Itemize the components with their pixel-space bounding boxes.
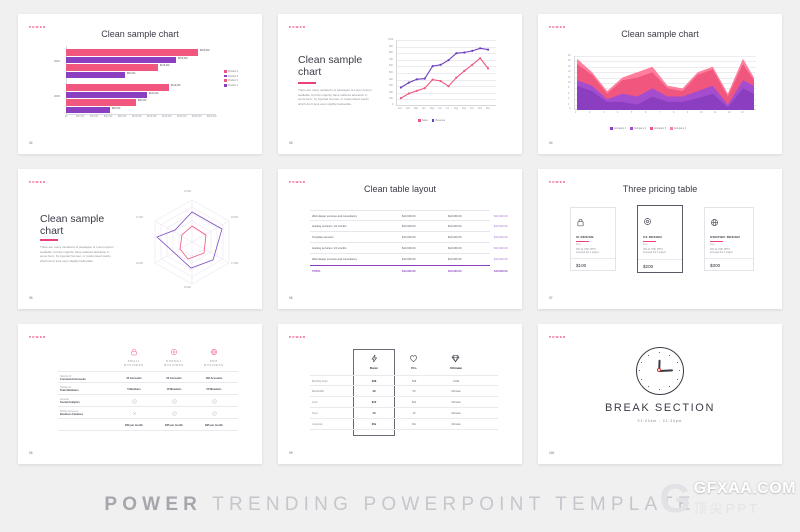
card-free-label: Free [710, 244, 715, 246]
price-normal: $25 per month [154, 424, 194, 427]
legend-item: Revenue [432, 119, 445, 122]
row-label-bottom: Connected Accounts [60, 378, 86, 381]
break-title: BREAK SECTION [538, 402, 782, 414]
x-tick: Feb [406, 108, 410, 110]
bar-label: $80,000 [127, 73, 135, 75]
cell-small: 25 Accounts [114, 377, 154, 380]
y-tick: 12 [568, 77, 571, 79]
cell-total-1: $13,000.00 [402, 270, 415, 273]
x-tick: 9 [687, 112, 688, 114]
bar-label: $180,000 [200, 50, 210, 52]
y-tick: 700 [389, 59, 393, 61]
radar-axis-label: 17,000 [136, 217, 143, 219]
line-series-svg [397, 40, 496, 106]
cell-ultimate: Ultimate [436, 401, 476, 404]
cell-value-3: $13,000.00 [494, 225, 507, 228]
clock-icon [636, 347, 684, 395]
bar-label: $110,000 [149, 93, 158, 95]
table-row[interactable]: Template services $13,000.00 $13,000.00 … [310, 232, 490, 243]
y-tick: 18 [568, 60, 571, 62]
bar-label: $150,000 [178, 58, 188, 60]
legend-label: Product 2 [228, 79, 238, 82]
legend-item: Product 4 [224, 70, 238, 73]
bar-label: $140,000 [171, 85, 181, 87]
x-tick: Jan [398, 108, 402, 110]
cell-value-1: $13,000.00 [402, 225, 415, 228]
card-free-label: Free [576, 244, 581, 246]
row-label: Monthly Fees [312, 380, 328, 383]
check-icon [212, 411, 217, 416]
legend-label: Company 3 [654, 127, 666, 130]
y-tick: 800 [389, 52, 393, 54]
cell-basic: 49 [354, 390, 394, 393]
brand-logo: POWER [29, 180, 46, 184]
x-tick: $180,000 [192, 116, 202, 118]
slide-body-text: There are many variations of passages of… [298, 88, 372, 106]
cell-description: Hosting services / 24 months [312, 247, 347, 250]
card-title: GRAPHIC DESIGN [710, 235, 740, 239]
column-header-pro-business: PRO BUSINESS [194, 360, 234, 367]
cell-description: Web design services and consultancy [312, 215, 357, 218]
cross-icon [132, 411, 137, 416]
watermark-domain: GFXAA.COM [694, 480, 796, 498]
table-row[interactable]: Web design services and consultancy $13,… [310, 254, 490, 265]
card-description: JPG AI, PDF, PPTX Licensed For 1 project [643, 249, 679, 256]
cell-total-label: TOTAL [312, 270, 321, 273]
x-tick: $80,000 [118, 116, 126, 118]
comparison-table: Number of Connected Accounts 25 Accounts… [58, 371, 238, 431]
x-tick: $160,000 [177, 116, 187, 118]
radar-axis-label: 18,000 [231, 217, 238, 219]
chart-legend: Company 1 Company 2 Company 3 Company 4 [610, 127, 686, 130]
legend-item: Company 2 [630, 127, 646, 130]
cell-value-3: $13,000.00 [494, 258, 507, 261]
table-row[interactable]: Contents 20x 30x Ultimate [310, 419, 498, 430]
x-tick: 5 [631, 112, 632, 114]
slide-grid: POWER Clean sample chart 02 $180,000 $15… [0, 0, 800, 478]
cell-ultimate: Ultimate [436, 412, 476, 415]
category-label: 2016 [54, 60, 60, 63]
x-tick: Apr [422, 108, 426, 110]
x-tick: $100,000 [132, 116, 142, 118]
y-tick: 6 [568, 93, 569, 95]
page-number: 08 [29, 451, 33, 455]
cell-normal: 10 Members [154, 388, 194, 391]
legend-item: Sales [418, 119, 428, 122]
slide-thumbnail-05[interactable]: POWER 05 Clean sample chart There are ma… [18, 169, 262, 309]
cell-value-3: $13,000.00 [494, 215, 507, 218]
globe-icon [210, 348, 218, 356]
cell-value-2: $13,000.00 [448, 247, 461, 250]
table-row[interactable]: Hosting services / 24 months $13,000.00 … [310, 243, 490, 254]
cell-total-3: $13,000.00 [494, 270, 507, 273]
chart-legend: Product 4 Product 3 Product 2 Product 1 [224, 70, 238, 87]
table-row[interactable]: Limit $10 $12 Ultimate [310, 397, 498, 408]
cell-ultimate: 100$ [436, 380, 476, 383]
bar-product-3 [66, 92, 147, 99]
legend-label: Company 1 [614, 127, 626, 130]
table-row[interactable]: Monthly Fees 20$ 50$ 100$ [310, 375, 498, 386]
page-title: Three pricing table [538, 184, 782, 194]
legend-label: Revenue [436, 119, 446, 122]
cell-ultimate: Ultimate [436, 390, 476, 393]
cell-value-2: $13,000.00 [448, 258, 461, 261]
line-chart: 1000 900 800 700 600 500 400 300 200 100… [388, 40, 496, 116]
y-tick: 4 [568, 98, 569, 100]
chart-legend: Sales Revenue [418, 119, 445, 122]
cell-value-1: $13,000.00 [402, 236, 415, 239]
y-tick: 300 [389, 85, 393, 87]
pricing-card-graphic-design[interactable]: GRAPHIC DESIGN Free JPG AI, PDF, PPTX Li… [704, 207, 754, 271]
cell-basic: 20x [354, 423, 394, 426]
cell-value-2: $13,000.00 [448, 215, 461, 218]
column-header-pro: Pro [394, 366, 434, 370]
card-price: $200 [643, 264, 653, 269]
page-number: 02 [29, 141, 33, 145]
cell-basic: 10 [354, 412, 394, 415]
watermark-logo: G [660, 482, 691, 516]
x-tick: Oct [470, 108, 474, 110]
legend-item: Product 2 [224, 79, 238, 82]
card-price: $300 [710, 263, 720, 268]
globe-icon [710, 218, 719, 227]
area-series-svg [575, 56, 756, 110]
table-total-row: TOTAL $13,000.00 $13,000.00 $13,000.00 [310, 265, 490, 276]
table-row[interactable]: Sync 10 15 Ultimate [310, 408, 498, 419]
check-icon [172, 399, 177, 404]
cell-value-2: $13,000.00 [448, 236, 461, 239]
table-row[interactable]: Priority Access to Business Features [58, 407, 238, 419]
cell-basic: $10 [354, 401, 394, 404]
cell-pro: 50$ [394, 380, 434, 383]
y-tick: 20 [568, 55, 571, 57]
cell-pro: 50 Members [194, 388, 234, 391]
bar-chart: $180,000 $150,000 $125,000 $80,000 2016 … [66, 46, 216, 124]
cell-value-1: $13,000.00 [402, 247, 415, 250]
cell-pro: 15 [394, 412, 434, 415]
x-tick: Nov [478, 108, 482, 110]
page-number: 03 [289, 141, 293, 145]
brand-logo: POWER [289, 335, 306, 339]
legend-label: Product 1 [228, 84, 238, 87]
slide-thumbnail-06[interactable]: POWER Clean table layout 06 Web design s… [278, 169, 522, 309]
row-label-bottom: Team Members [60, 389, 79, 392]
x-tick: 8 [673, 112, 674, 114]
slide-thumbnail-100[interactable]: POWER 100 BREAK SECTION 01:00am - 01:30p… [538, 324, 782, 464]
header-line-2: BUSINESS [204, 364, 224, 367]
card-free-label: Free [643, 244, 648, 246]
slide-thumbnail-08[interactable]: POWER 08 SMALL BUSINESS NORMAL BUSINESS … [18, 324, 262, 464]
page-number: 09 [289, 451, 293, 455]
check-icon [132, 399, 137, 404]
legend-label: Product 4 [228, 70, 238, 73]
slide-thumbnail-04[interactable]: POWER Clean sample chart 04 20 18 16 14 [538, 14, 782, 154]
header-line-1: PRO [210, 360, 218, 363]
legend-label: Product 3 [228, 75, 238, 78]
header-line-1: NORMAL [166, 360, 182, 363]
legend-item: Product 1 [224, 84, 238, 87]
bar-product-4 [66, 49, 198, 56]
cell-description: Hosting services / 24 months [312, 225, 347, 228]
x-tick: $60,000 [104, 116, 112, 118]
table-row[interactable]: Number of Team Members 5 Members 10 Memb… [58, 383, 238, 395]
watermark: G GFXAA.COM 顶尖PPT [660, 480, 796, 517]
slide-thumbnail-02[interactable]: POWER Clean sample chart 02 $180,000 $15… [18, 14, 262, 154]
cell-pro: 30x [394, 423, 434, 426]
y-tick: 14 [568, 71, 571, 73]
x-tick: 1 [575, 112, 576, 114]
column-header-small-business: SMALL BUSINESS [114, 360, 154, 367]
x-tick: 3 [603, 112, 604, 114]
brand-logo: POWER [549, 335, 566, 339]
cell-value-2: $13,000.00 [448, 225, 461, 228]
page-title: Clean table layout [278, 184, 522, 194]
radar-chart: 10,000 18,000 17,900 18,000 19,000 17,00… [136, 187, 248, 293]
feature-table: Monthly Fees 20$ 50$ 100$ Bandwidth 49 5… [310, 375, 498, 430]
column-header-basic: Basic [354, 366, 394, 370]
legend-item: Company 1 [610, 127, 626, 130]
page-number: 04 [549, 141, 553, 145]
legend-label: Company 4 [674, 127, 686, 130]
y-tick: 500 [389, 72, 393, 74]
bar-product-2 [66, 64, 158, 71]
cell-total-2: $13,000.00 [448, 270, 461, 273]
row-label: Number of Connected Accounts [60, 375, 86, 381]
page-number: 06 [289, 296, 293, 300]
x-tick: May [430, 108, 434, 110]
check-icon [212, 399, 217, 404]
row-label: Sync [312, 412, 318, 415]
card-description: JPG AI, PDF, PPTX Licensed For 1 project [576, 249, 612, 256]
cell-value-3: $13,000.00 [494, 247, 507, 250]
y-tick: 0 [392, 104, 393, 106]
x-tick: 6 [645, 112, 646, 114]
bar-product-2 [66, 99, 136, 106]
y-tick: 0 [569, 108, 570, 110]
x-tick: Dec [486, 108, 490, 110]
table-row[interactable]: Bandwidth 49 59 Ultimate [310, 386, 498, 397]
header-line-2: BUSINESS [124, 364, 144, 367]
row-label: Bandwidth [312, 390, 324, 393]
footer-text: POWER TRENDING POWERPOINT TEMPLATE [104, 494, 695, 516]
y-tick: 10 [568, 82, 571, 84]
radar-axis-label: 17,900 [231, 263, 238, 265]
table-footer-row: $50 per month $25 per month $95 per mont… [58, 419, 238, 431]
radar-axis-label: 19,000 [136, 263, 143, 265]
cell-value-3: $13,000.00 [494, 236, 507, 239]
page-number: 05 [29, 296, 33, 300]
bar-product-1 [66, 107, 110, 114]
legend-item: Company 3 [650, 127, 666, 130]
column-header-ultimate: Ultimate [436, 366, 476, 370]
price-pro: $95 per month [194, 424, 234, 427]
cell-pro: 59 [394, 390, 434, 393]
x-tick: $0 [65, 116, 68, 118]
heart-icon [409, 354, 418, 363]
header-line-1: SMALL [128, 360, 141, 363]
radar-svg [136, 187, 248, 293]
slide-body-text: There are many variations of passages of… [40, 245, 114, 263]
gear-icon [643, 217, 652, 226]
slide-heading: Clean sample chart [40, 213, 110, 237]
cell-pro: 100 Accounts [194, 377, 234, 380]
y-tick: 2 [568, 104, 569, 106]
page-title: Clean sample chart [18, 29, 262, 39]
bar-product-1 [66, 72, 125, 79]
x-tick: $40,000 [90, 116, 98, 118]
slide-thumbnail-03[interactable]: POWER 03 Clean sample chart There are ma… [278, 14, 522, 154]
x-tick: 4 [617, 112, 618, 114]
page-number: 100 [549, 451, 554, 455]
footer-bold: POWER [104, 494, 202, 515]
table-row[interactable]: Hosting services / 24 months $13,000.00 … [310, 221, 490, 232]
row-label: Contents [312, 423, 322, 426]
brand-logo: POWER [29, 335, 46, 339]
card-title: UX DESIGN [643, 235, 662, 239]
lock-icon [576, 218, 585, 227]
x-tick: Jul [446, 108, 449, 110]
x-tick: 11 [714, 112, 716, 114]
y-tick: 900 [389, 46, 393, 48]
cell-basic: 20$ [354, 380, 394, 383]
x-tick: Jun [438, 108, 442, 110]
radar-axis-label: 10,000 [184, 191, 191, 193]
page-title: Clean sample chart [538, 29, 782, 39]
card-title: UI DESIGN [576, 235, 594, 239]
x-tick: $120,000 [147, 116, 157, 118]
header-line-2: BUSINESS [164, 364, 184, 367]
pricing-card-ux-design[interactable]: UX DESIGN Free JPG AI, PDF, PPTX License… [637, 205, 683, 273]
bolt-icon [370, 354, 379, 363]
x-tick: 10 [700, 112, 703, 114]
cell-description: Web design services and consultancy [312, 258, 357, 261]
x-tick: 13 [741, 112, 744, 114]
category-label: 2015 [54, 95, 60, 98]
row-label-bottom: Business Features [60, 413, 83, 416]
bar-product-3 [66, 57, 176, 64]
watermark-subtitle: 顶尖PPT [694, 498, 796, 517]
y-tick: 8 [568, 87, 569, 89]
footer-banner: POWER TRENDING POWERPOINT TEMPLATE G GFX… [0, 478, 800, 532]
x-tick: Mar [414, 108, 418, 110]
x-tick: $140,000 [162, 116, 172, 118]
lock-icon [130, 348, 138, 356]
table-row[interactable]: Number of Connected Accounts 25 Accounts… [58, 371, 238, 383]
card-description: JPG AI, PDF, PPTX Licensed For 1 project [710, 249, 746, 256]
y-tick: 1000 [388, 39, 393, 41]
cell-normal: 50 Accounts [154, 377, 194, 380]
row-label: Priority Access to Business Features [60, 410, 83, 416]
price-small: $50 per month [114, 424, 154, 427]
cell-ultimate: Ultimate [436, 423, 476, 426]
cell-value-1: $13,000.00 [402, 258, 415, 261]
row-label: Limit [312, 401, 317, 404]
row-label: Number of Team Members [60, 386, 79, 392]
x-tick: 12 [728, 112, 731, 114]
y-tick: 600 [389, 65, 393, 67]
check-icon [172, 411, 177, 416]
y-tick: 100 [389, 98, 393, 100]
footer-rest: TRENDING POWERPOINT TEMPLATE [202, 494, 696, 515]
x-tick: Sep [462, 108, 466, 110]
bar-product-4 [66, 84, 169, 91]
x-tick: Aug [454, 108, 458, 110]
brand-logo: POWER [289, 25, 306, 29]
legend-item: Company 4 [670, 127, 686, 130]
legend-label: Sales [422, 119, 428, 122]
legend-item: Product 3 [224, 75, 238, 78]
legend-label: Company 2 [634, 127, 646, 130]
cell-pro: $12 [394, 401, 434, 404]
bar-label: $60,000 [112, 108, 120, 110]
data-table: Web design services and consultancy $13,… [310, 210, 490, 276]
slide-thumbnail-09[interactable]: POWER 09 Basic Pro Ultimate Monthly Fees… [278, 324, 522, 464]
radar-axis-label: 18,000 [184, 287, 191, 289]
row-label: General Social Analytics [60, 398, 80, 404]
area-chart: 20 18 16 14 12 10 8 6 4 2 0 1 2 3 4 5 6 … [566, 56, 756, 118]
diamond-icon [451, 354, 460, 363]
slide-thumbnail-07[interactable]: POWER Three pricing table 07 UI DESIGN F… [538, 169, 782, 309]
x-tick: 2 [589, 112, 590, 114]
break-time: 01:00am - 01:30pm [538, 419, 782, 423]
y-tick: 16 [568, 66, 571, 68]
bar-label: $125,000 [160, 65, 170, 67]
x-tick: 7 [659, 112, 660, 114]
x-tick: $20,000 [76, 116, 84, 118]
row-label-bottom: Social Analytics [60, 401, 80, 404]
table-row[interactable]: Web design services and consultancy $13,… [310, 210, 490, 221]
gear-icon [170, 348, 178, 356]
y-tick: 200 [389, 92, 393, 94]
cell-value-1: $13,000.00 [402, 215, 415, 218]
bar-label: $95,000 [138, 100, 146, 102]
x-tick: $200,000 [207, 116, 217, 118]
page-number: 07 [549, 296, 553, 300]
cell-small: 5 Members [114, 388, 154, 391]
table-row[interactable]: General Social Analytics [58, 395, 238, 407]
y-tick: 400 [389, 79, 393, 81]
pricing-card-ui-design[interactable]: UI DESIGN Free JPG AI, PDF, PPTX License… [570, 207, 616, 271]
cell-description: Template services [312, 236, 334, 239]
column-header-normal-business: NORMAL BUSINESS [154, 360, 194, 367]
slide-heading: Clean sample chart [298, 54, 368, 78]
card-price: $100 [576, 263, 586, 268]
